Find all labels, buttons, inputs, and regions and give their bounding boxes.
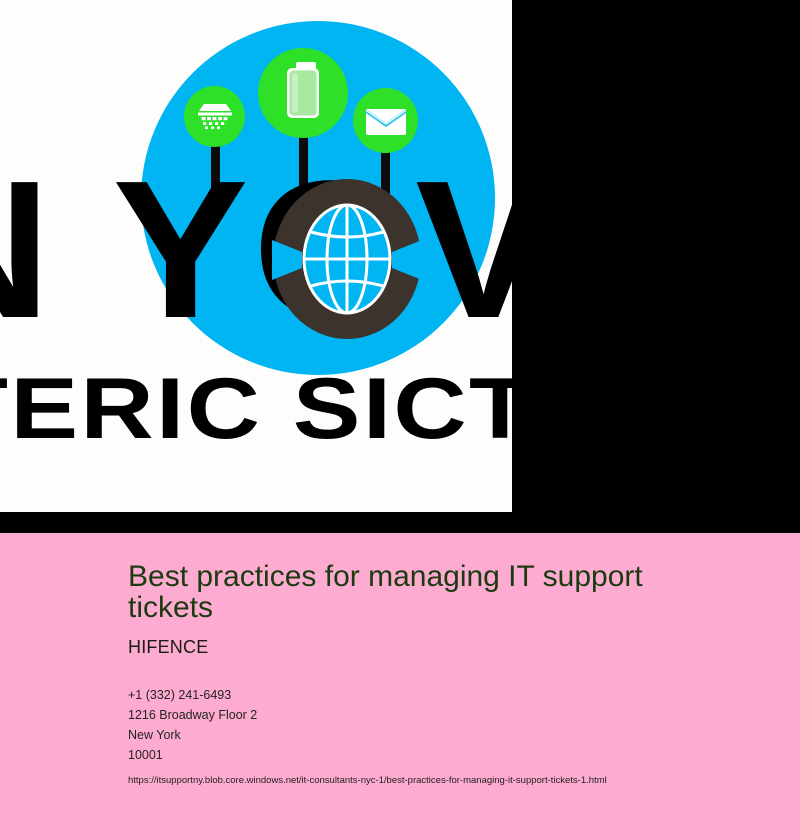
logo-image-panel: N YOV <box>0 0 512 512</box>
info-content: Best practices for managing IT support t… <box>128 561 776 788</box>
info-panel: Best practices for managing IT support t… <box>0 533 800 840</box>
battery-device-icon <box>278 61 328 125</box>
source-url[interactable]: https://itsupportny.blob.core.windows.ne… <box>128 774 776 788</box>
logo-bubble-device <box>258 48 348 138</box>
contact-city: New York <box>128 725 776 745</box>
contact-zip: 10001 <box>128 745 776 765</box>
logo-globe <box>272 178 422 340</box>
network-rack-icon <box>195 100 235 134</box>
page-root: N YOV <box>0 0 800 840</box>
page-title: Best practices for managing IT support t… <box>128 561 703 623</box>
logo-bubble-network <box>184 86 245 147</box>
contact-street: 1216 Broadway Floor 2 <box>128 705 776 725</box>
brand-name: HIFENCE <box>128 637 776 657</box>
envelope-mail-icon <box>365 105 407 137</box>
globe-icon <box>272 178 422 340</box>
logo-wordmark-line-2: TERIC SICT <box>0 366 512 452</box>
logo-wordmark-line-1: N YOV <box>0 152 512 348</box>
contact-phone: +1 (332) 241-6493 <box>128 685 776 705</box>
contact-details: +1 (332) 241-6493 1216 Broadway Floor 2 … <box>128 685 776 765</box>
